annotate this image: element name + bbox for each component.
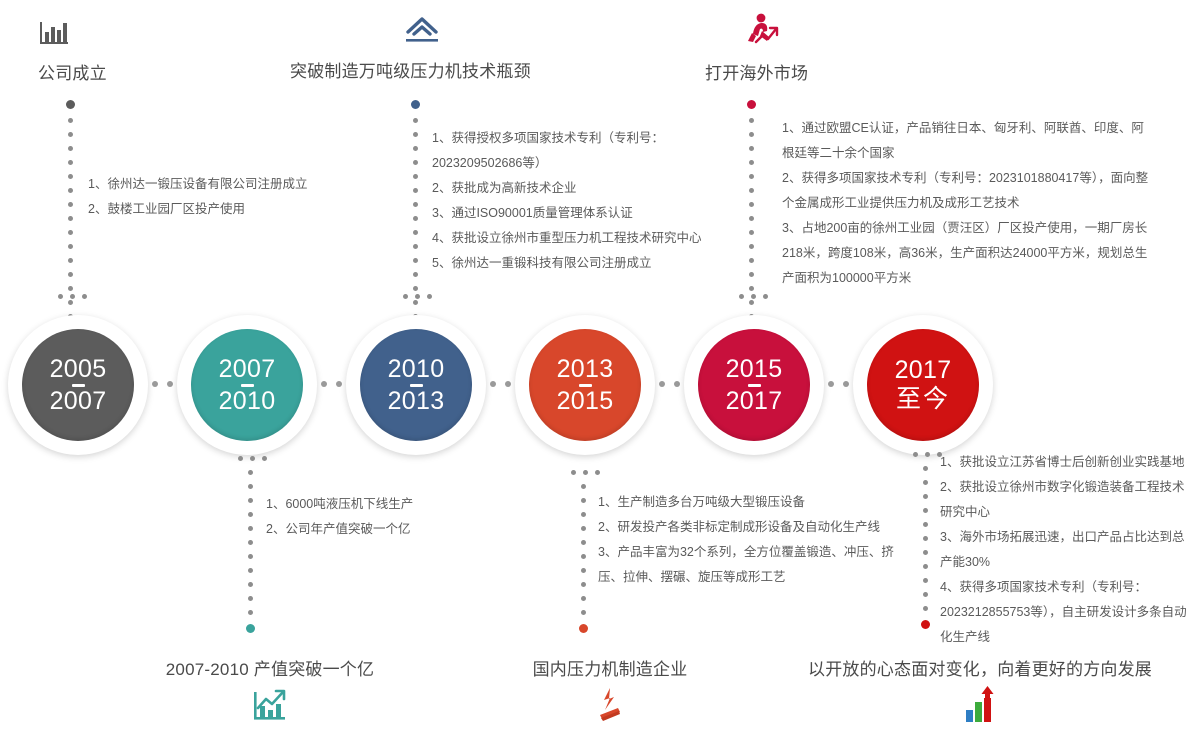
detail-item: 3、通过ISO90001质量管理体系认证 bbox=[432, 201, 744, 226]
detail-list-output-value: 1、6000吨液压机下线生产 2、公司年产值突破一个亿 bbox=[266, 492, 526, 542]
detail-item: 4、获得多项国家技术专利（专利号：2023212855753等），自主研发设计多… bbox=[940, 575, 1192, 650]
detail-item: 2、研发投产各类非标定制成形设备及自动化生产线 bbox=[598, 515, 918, 540]
detail-item: 1、6000吨液压机下线生产 bbox=[266, 492, 526, 517]
runner-growth-icon bbox=[740, 12, 808, 53]
milestone-year-start: 2010 bbox=[388, 356, 445, 383]
milestone-2005-2007[interactable]: 2005 2007 bbox=[8, 315, 148, 455]
detail-item: 5、徐州达一重锻科技有限公司注册成立 bbox=[432, 251, 744, 276]
bottom-header-output-value: 2007-2010 产值突破一个亿 bbox=[120, 655, 420, 731]
milestone-year-start: 2013 bbox=[557, 356, 614, 383]
milestone-2015-2017[interactable]: 2015 2017 bbox=[684, 315, 824, 455]
detail-list-overseas-market: 1、通过欧盟CE认证，产品销往日本、匈牙利、阿联酋、印度、阿根廷等二十余个国家 … bbox=[782, 116, 1152, 291]
milestone-2010-2013[interactable]: 2010 2013 bbox=[346, 315, 486, 455]
milestone-year-end: 2010 bbox=[219, 388, 276, 415]
milestone-year-start: 2005 bbox=[50, 356, 107, 383]
detail-item: 3、产品丰富为32个系列，全方位覆盖锻造、冲压、挤压、拉伸、摆碾、旋压等成形工艺 bbox=[598, 540, 918, 590]
detail-list-company-founded: 1、徐州达一锻压设备有限公司注册成立 2、鼓楼工业园厂区投产使用 bbox=[88, 172, 348, 222]
milestone-year-start: 2007 bbox=[219, 356, 276, 383]
detail-list-tech-breakthrough: 1、获得授权多项国家技术专利（专利号：2023209502686等） 2、获批成… bbox=[432, 126, 744, 276]
connector-dots-open-mindset bbox=[921, 466, 930, 638]
milestone-disc: 2013 2015 bbox=[529, 329, 641, 441]
detail-item: 1、获批设立江苏省博士后创新创业实践基地 bbox=[940, 450, 1192, 475]
milestone-disc: 2017 至今 bbox=[867, 329, 979, 441]
detail-item: 2、公司年产值突破一个亿 bbox=[266, 517, 526, 542]
milestone-year-end: 2007 bbox=[50, 388, 107, 415]
detail-item: 1、徐州达一锻压设备有限公司注册成立 bbox=[88, 172, 348, 197]
section-title: 突破制造万吨级压力机技术瓶颈 bbox=[290, 57, 531, 82]
detail-item: 2、获批成为高新技术企业 bbox=[432, 176, 744, 201]
milestone-2007-2010[interactable]: 2007 2010 bbox=[177, 315, 317, 455]
colored-bars-arrow-icon bbox=[957, 684, 1003, 731]
detail-item: 3、占地200亩的徐州工业园（贾汪区）厂区投产使用，一期厂房长218米，跨度10… bbox=[782, 216, 1152, 291]
milestone-disc: 2007 2010 bbox=[191, 329, 303, 441]
detail-item: 3、海外市场拓展迅速，出口产品占比达到总产能30% bbox=[940, 525, 1192, 575]
timeline-infographic: 公司成立 1、徐州达一锻压设备有限公司注册成立 2、鼓楼工业园厂区投产使用 突破… bbox=[0, 0, 1200, 738]
connector-dots-end-overseas-market bbox=[739, 294, 768, 299]
section-title: 以开放的心态面对变化，向着更好的方向发展 bbox=[760, 655, 1200, 680]
red-arrow-icon bbox=[587, 684, 633, 731]
detail-item: 2、获批设立徐州市数字化锻造装备工程技术研究中心 bbox=[940, 475, 1192, 525]
detail-item: 1、通过欧盟CE认证，产品销往日本、匈牙利、阿联酋、印度、阿根廷等二十余个国家 bbox=[782, 116, 1152, 166]
milestone-year-end: 2017 bbox=[726, 388, 783, 415]
section-title: 打开海外市场 bbox=[705, 59, 808, 84]
mountain-peak-icon bbox=[402, 12, 531, 51]
milestone-disc: 2010 2013 bbox=[360, 329, 472, 441]
bottom-header-open-mindset: 以开放的心态面对变化，向着更好的方向发展 bbox=[760, 655, 1200, 731]
connector-dots-start-output-value bbox=[238, 456, 267, 461]
milestone-year-start: 2015 bbox=[726, 356, 783, 383]
connector-dots-start-domestic-press bbox=[571, 470, 600, 475]
detail-item: 4、获批设立徐州市重型压力机工程技术研究中心 bbox=[432, 226, 744, 251]
milestone-disc: 2015 2017 bbox=[698, 329, 810, 441]
section-title: 公司成立 bbox=[38, 59, 107, 84]
section-title: 2007-2010 产值突破一个亿 bbox=[120, 655, 420, 680]
milestone-year-end: 2013 bbox=[388, 388, 445, 415]
milestone-year-end: 2015 bbox=[557, 388, 614, 415]
milestone-disc: 2005 2007 bbox=[22, 329, 134, 441]
connector-dots-end-tech-breakthrough bbox=[403, 294, 432, 299]
milestone-2013-2015[interactable]: 2013 2015 bbox=[515, 315, 655, 455]
top-header-company-founded: 公司成立 bbox=[38, 18, 107, 84]
top-header-tech-breakthrough: 突破制造万吨级压力机技术瓶颈 bbox=[290, 12, 531, 82]
milestone-2017-now[interactable]: 2017 至今 bbox=[853, 315, 993, 455]
detail-item: 1、获得授权多项国家技术专利（专利号：2023209502686等） bbox=[432, 126, 744, 176]
section-title: 国内压力机制造企业 bbox=[460, 655, 760, 680]
bar-chart-icon bbox=[38, 18, 107, 53]
detail-item: 2、获得多项国家技术专利（专利号：2023101880417等），面向整个金属成… bbox=[782, 166, 1152, 216]
connector-dots-domestic-press bbox=[579, 484, 588, 642]
detail-list-open-mindset: 1、获批设立江苏省博士后创新创业实践基地 2、获批设立徐州市数字化锻造装备工程技… bbox=[940, 450, 1192, 650]
detail-list-domestic-press: 1、生产制造多台万吨级大型锻压设备 2、研发投产各类非标定制成形设备及自动化生产… bbox=[598, 490, 918, 590]
milestone-year-end: 至今 bbox=[896, 386, 950, 413]
detail-item: 2、鼓楼工业园厂区投产使用 bbox=[88, 197, 348, 222]
connector-dots-start-open-mindset bbox=[913, 452, 942, 457]
milestone-year-start: 2017 bbox=[895, 357, 952, 384]
growth-chart-icon bbox=[247, 684, 293, 731]
bottom-header-domestic-press: 国内压力机制造企业 bbox=[460, 655, 760, 731]
top-header-overseas-market: 打开海外市场 bbox=[705, 12, 808, 84]
connector-dots-end-company-founded bbox=[58, 294, 87, 299]
connector-dots-output-value bbox=[246, 470, 255, 642]
detail-item: 1、生产制造多台万吨级大型锻压设备 bbox=[598, 490, 918, 515]
